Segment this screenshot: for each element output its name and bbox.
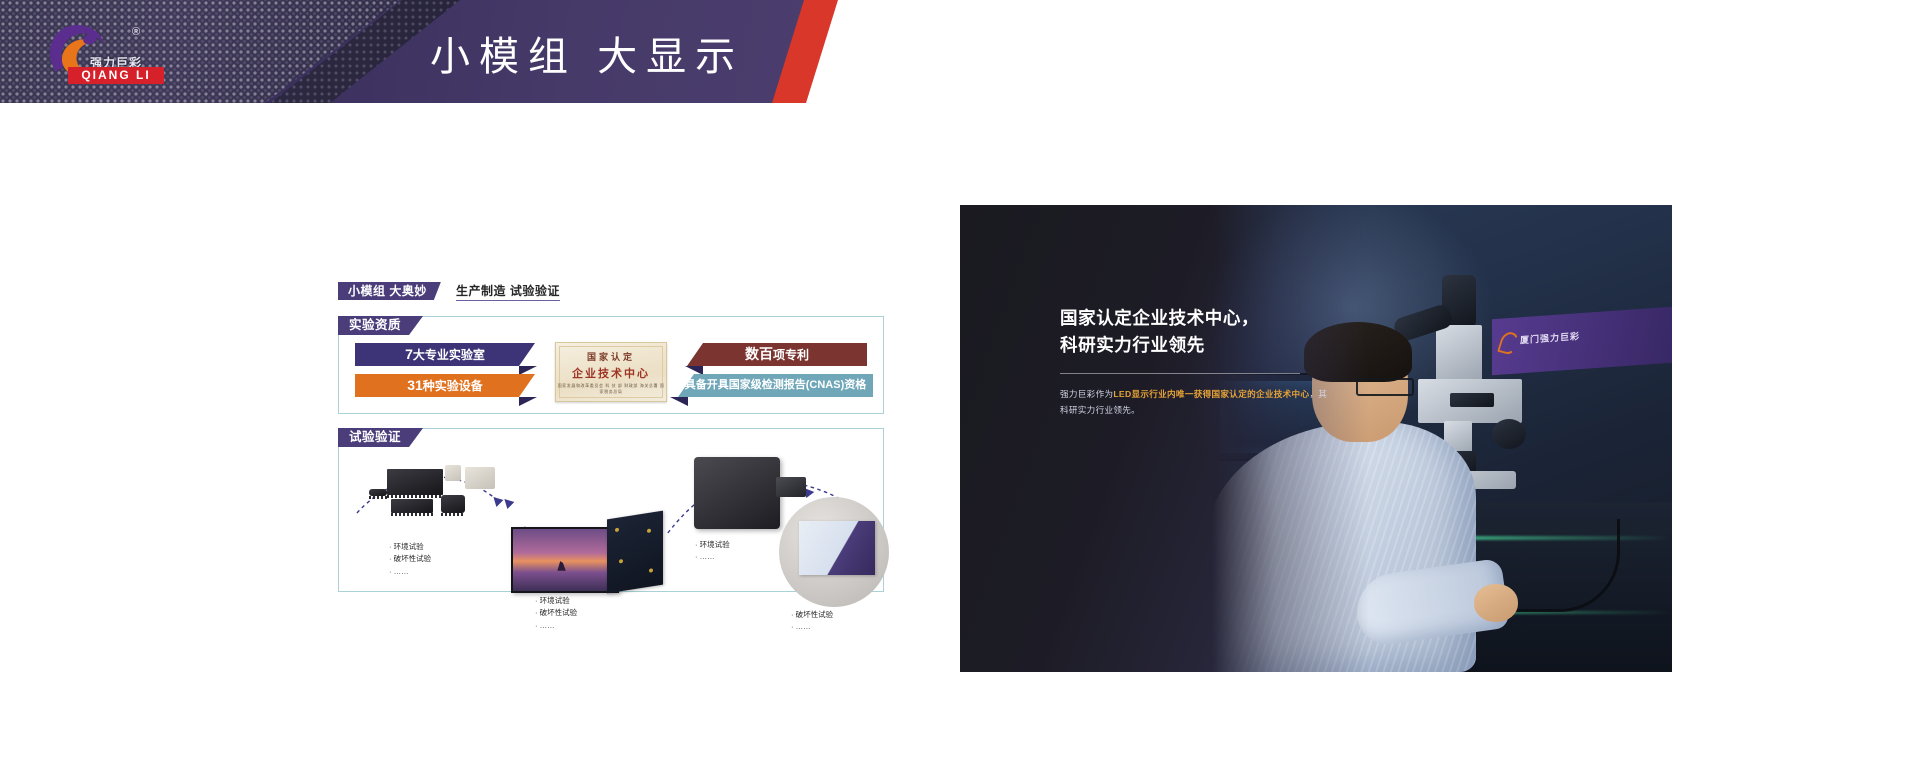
research-panel-divider xyxy=(1060,373,1300,374)
certificate-line3: 国家发展和改革委员会 科 技 部 财政部 海关总署 国家税务总局 xyxy=(556,383,666,395)
cabinet-module-icon xyxy=(694,457,780,529)
banner-labs-number: 7 xyxy=(405,346,413,362)
lab-photo: 厦门强力巨彩 xyxy=(1212,205,1672,672)
research-panel-body: 强力巨彩作为LED显示行业内唯一获得国家认定的企业技术中心，其科研实力行业领先。 xyxy=(1060,387,1332,419)
components-group xyxy=(369,461,509,531)
components-node-labels: · 环境试验 · 破坏性试验 · …… xyxy=(389,541,431,578)
components-label-1: · 环境试验 xyxy=(389,541,431,553)
qualification-card: 实验资质 7大专业实验室 31种实验设备 数百项专利 具备开具国家级检测报告(C… xyxy=(338,316,884,414)
banner-cnas: 具备开具国家级检测报告(CNAS)资格 xyxy=(678,374,873,397)
product-package-box xyxy=(799,521,875,575)
module-label-2: · 破坏性试验 xyxy=(535,607,577,619)
banner-equipment-text: 种实验设备 xyxy=(423,379,483,393)
research-panel-title: 国家认定企业技术中心， 科研实力行业领先 xyxy=(1060,305,1332,359)
package-label-1: · 破坏性试验 xyxy=(791,609,833,621)
banner-tail-4 xyxy=(670,397,688,406)
brand-logo[interactable]: ® 强力巨彩 QIANG LI xyxy=(46,20,164,86)
banner-tail-3 xyxy=(685,366,703,375)
page-header: ® 强力巨彩 QIANG LI 小模组 大显示 xyxy=(0,0,838,103)
banner-patents-text: 项专利 xyxy=(773,348,809,362)
led-module-icon xyxy=(465,467,495,489)
pin-icon xyxy=(369,489,387,496)
infographic-header: 小模组 大奥妙 生产制造 试验验证 xyxy=(338,282,884,302)
research-panel: 厦门强力巨彩 xyxy=(960,205,1672,672)
certificate-line1: 国家认定 xyxy=(587,350,635,363)
banner-labs-text: 大专业实验室 xyxy=(413,348,485,362)
package-node-labels: · 破坏性试验 · …… xyxy=(791,609,833,634)
qualification-card-label: 实验资质 xyxy=(338,316,423,335)
body-highlight: LED显示行业内唯一获得国家认定的企业技术中心 xyxy=(1113,389,1309,399)
cabinet-label-2: · …… xyxy=(695,551,730,563)
ic-chip-icon xyxy=(391,499,433,513)
certificate-line2: 企业技术中心 xyxy=(572,365,650,381)
module-node-labels: · 环境试验 · 破坏性试验 · …… xyxy=(535,595,577,632)
registered-mark-icon: ® xyxy=(132,26,140,38)
research-panel-text: 国家认定企业技术中心， 科研实力行业领先 强力巨彩作为LED显示行业内唯一获得国… xyxy=(1060,305,1332,419)
banner-tail-2 xyxy=(519,397,537,406)
body-prefix: 强力巨彩作为 xyxy=(1060,389,1113,399)
module-label-1: · 环境试验 xyxy=(535,595,577,607)
banner-labs: 7大专业实验室 xyxy=(355,343,535,366)
banner-patents: 数百项专利 xyxy=(687,343,867,366)
page-title: 小模组 大显示 xyxy=(430,24,790,82)
glasses-icon xyxy=(1356,378,1414,396)
researcher-hand xyxy=(1474,584,1518,622)
cabinet-label-1: · 环境试验 xyxy=(695,539,730,551)
infographic-subtag: 生产制造 试验验证 xyxy=(456,282,560,301)
testing-card: 试验验证 xyxy=(338,428,884,592)
research-title-line2: 科研实力行业领先 xyxy=(1060,332,1332,359)
banner-tail-1 xyxy=(519,366,537,375)
cabinet-node-labels: · 环境试验 · …… xyxy=(695,539,730,564)
poster-page: ® 强力巨彩 QIANG LI 小模组 大显示 小模组 大奥妙 生产制造 试验验… xyxy=(0,0,1920,784)
led-lamp-icon xyxy=(445,465,461,481)
infographic-tag: 小模组 大奥妙 xyxy=(338,282,441,300)
certificate-plaque: 国家认定 企业技术中心 国家发展和改革委员会 科 技 部 财政部 海关总署 国家… xyxy=(555,342,667,402)
testing-flow-diagram: · 环境试验 · 破坏性试验 · …… · 环境试验 · 破坏性试验 · …… … xyxy=(339,449,883,591)
pcb-board-icon xyxy=(607,511,663,594)
logo-english-name: QIANG LI xyxy=(68,67,164,84)
components-label-3: · …… xyxy=(389,566,431,578)
components-label-2: · 破坏性试验 xyxy=(389,553,431,565)
banner-patents-number: 数百 xyxy=(745,346,773,362)
package-label-2: · …… xyxy=(791,621,833,633)
testing-card-label: 试验验证 xyxy=(338,428,423,447)
connector-chip-icon xyxy=(387,469,443,495)
led-display-screen xyxy=(511,527,619,593)
infographic-block: 小模组 大奥妙 生产制造 试验验证 实验资质 7大专业实验室 31种实验设备 数… xyxy=(338,282,884,630)
banner-equipment-number: 31 xyxy=(407,377,423,393)
research-title-line1: 国家认定企业技术中心， xyxy=(1060,305,1332,332)
smd-chip-icon xyxy=(441,495,465,513)
module-label-3: · …… xyxy=(535,620,577,632)
banner-equipment: 31种实验设备 xyxy=(355,374,535,397)
